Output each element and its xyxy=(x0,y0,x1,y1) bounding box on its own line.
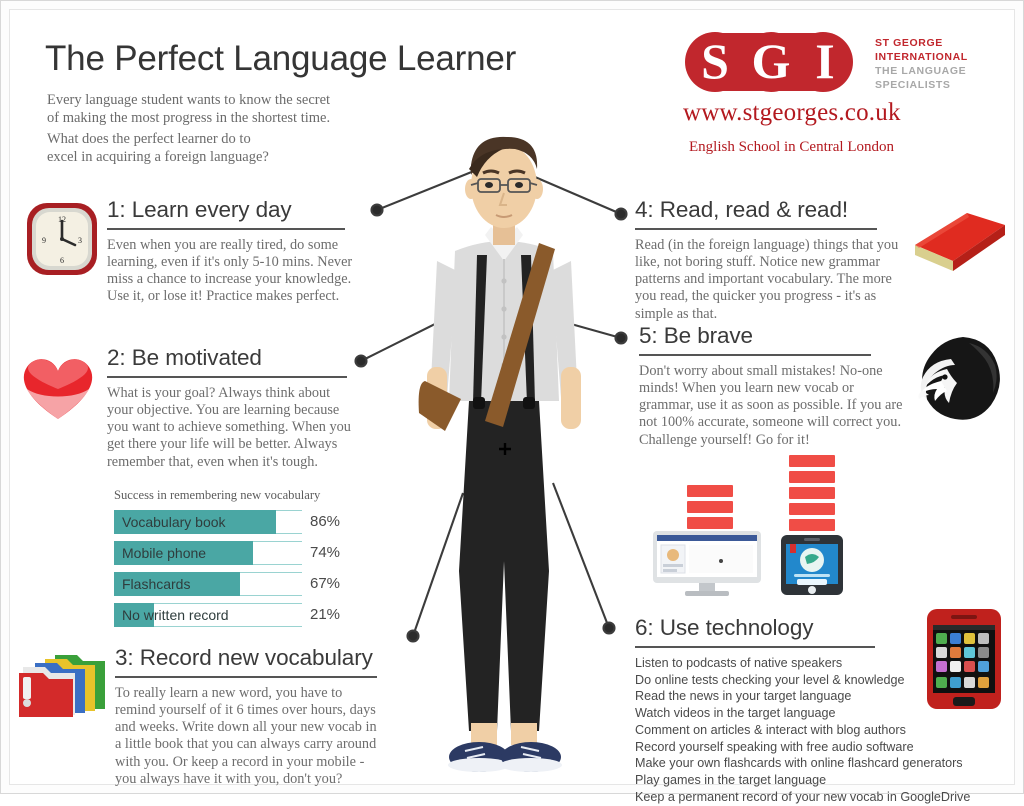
intro-1-line-1: Every language student wants to know the… xyxy=(47,92,330,110)
section-use-technology: 6: Use technology Listen to podcasts of … xyxy=(635,615,965,806)
bar-category-label: Mobile phone xyxy=(122,543,206,567)
section-4-heading: 4: Read, read & read! xyxy=(635,197,905,223)
chart-bar-row: Vocabulary book 86% xyxy=(114,510,359,537)
intro-1-line-2: of making the most progress in the short… xyxy=(47,110,330,128)
section-5-body: Don't worry about small mistakes! No-one… xyxy=(639,363,911,449)
sgi-logo-wordmark: ST GEORGE INTERNATIONAL THE LANGUAGE SPE… xyxy=(875,37,968,92)
intro-paragraph-2: What does the perfect learner do to exce… xyxy=(47,131,269,166)
intro-2-line-1: What does the perfect learner do to xyxy=(47,131,269,149)
bar-category-label: No written record xyxy=(122,605,229,629)
section-2-body: What is your goal? Always think about yo… xyxy=(107,385,359,471)
list-item: Keep a permanent record of your new voca… xyxy=(635,789,965,806)
bar-value-label: 21% xyxy=(310,605,340,625)
heart-icon xyxy=(15,349,101,423)
section-be-brave: 5: Be brave Don't worry about small mist… xyxy=(639,323,911,449)
technology-devices-illustration xyxy=(649,445,861,597)
lion-icon xyxy=(911,333,1007,425)
school-tagline: English School in Central London xyxy=(689,139,894,156)
bar-category-label: Vocabulary book xyxy=(122,512,226,536)
section-3-heading: 3: Record new vocabulary xyxy=(115,645,383,671)
vocabulary-success-chart: Success in remembering new vocabulary Vo… xyxy=(114,488,359,634)
chart-title: Success in remembering new vocabulary xyxy=(114,488,359,503)
section-record-new-vocabulary: 3: Record new vocabulary To really learn… xyxy=(115,645,383,788)
svg-text:9: 9 xyxy=(42,236,46,245)
svg-text:I: I xyxy=(815,33,834,89)
section-5-heading: 5: Be brave xyxy=(639,323,911,349)
svg-text:6: 6 xyxy=(60,256,64,265)
svg-text:3: 3 xyxy=(78,236,82,245)
section-3-rule xyxy=(115,676,377,678)
list-item: Comment on articles & interact with blog… xyxy=(635,722,965,739)
bar-value-label: 74% xyxy=(310,543,340,563)
clock-icon: 123 69 xyxy=(23,197,101,281)
section-learn-every-day: 1: Learn every day Even when you are rea… xyxy=(107,197,362,306)
section-6-heading: 6: Use technology xyxy=(635,615,965,641)
section-2-heading: 2: Be motivated xyxy=(107,345,359,371)
list-item: Do online tests checking your level & kn… xyxy=(635,672,965,689)
section-2-rule xyxy=(107,376,347,378)
section-1-rule xyxy=(107,228,345,230)
list-item: Play games in the target language xyxy=(635,772,965,789)
tablet-signal-bars xyxy=(789,455,835,531)
sgi-line-3: THE LANGUAGE xyxy=(875,65,968,79)
section-1-heading: 1: Learn every day xyxy=(107,197,362,223)
chart-bar-row: Flashcards 67% xyxy=(114,572,359,599)
section-4-body: Read (in the foreign language) things th… xyxy=(635,237,905,323)
website-url[interactable]: www.stgeorges.co.uk xyxy=(683,99,901,127)
section-6-rule xyxy=(635,646,875,648)
section-5-rule xyxy=(639,354,871,356)
page-title: The Perfect Language Learner xyxy=(45,39,516,79)
sgi-logo-mark: S G I xyxy=(679,31,869,93)
section-read-read-read: 4: Read, read & read! Read (in the forei… xyxy=(635,197,905,323)
svg-text:S: S xyxy=(701,33,729,89)
section-1-body: Even when you are really tired, do some … xyxy=(107,237,362,306)
sgi-line-4: SPECIALISTS xyxy=(875,79,968,93)
chart-bar-row: Mobile phone 74% xyxy=(114,541,359,568)
svg-text:12: 12 xyxy=(58,215,66,224)
folders-icon xyxy=(15,645,111,721)
section-3-body: To really learn a new word, you have to … xyxy=(115,685,383,788)
language-learner-illustration xyxy=(399,131,609,781)
sgi-line-1: ST GEORGE xyxy=(875,37,968,51)
intro-2-line-2: excel in acquiring a foreign language? xyxy=(47,149,269,167)
bar-value-label: 86% xyxy=(310,512,340,532)
sgi-logo-block: S G I ST GEORGE INTERNATIONAL THE LANGUA… xyxy=(679,31,1009,171)
list-item: Make your own flashcards with online fla… xyxy=(635,755,965,772)
bar-value-label: 67% xyxy=(310,574,340,594)
monitor-signal-bars xyxy=(687,485,733,529)
chart-bar-row: No written record 21% xyxy=(114,603,359,630)
sgi-line-2: INTERNATIONAL xyxy=(875,51,968,65)
list-item: Read the news in your target language xyxy=(635,688,965,705)
tablet-device-icon xyxy=(781,535,843,595)
red-book-icon xyxy=(909,199,1009,281)
desktop-monitor-icon xyxy=(653,531,761,596)
infographic-page: The Perfect Language Learner Every langu… xyxy=(0,0,1024,794)
bar-category-label: Flashcards xyxy=(122,574,190,598)
list-item: Record yourself speaking with free audio… xyxy=(635,739,965,756)
section-4-rule xyxy=(635,228,877,230)
list-item: Watch videos in the target language xyxy=(635,705,965,722)
list-item: Listen to podcasts of native speakers xyxy=(635,655,965,672)
svg-text:G: G xyxy=(752,33,791,89)
intro-paragraph-1: Every language student wants to know the… xyxy=(47,92,330,127)
technology-tips-list: Listen to podcasts of native speakers Do… xyxy=(635,655,965,806)
section-be-motivated: 2: Be motivated What is your goal? Alway… xyxy=(107,345,359,471)
